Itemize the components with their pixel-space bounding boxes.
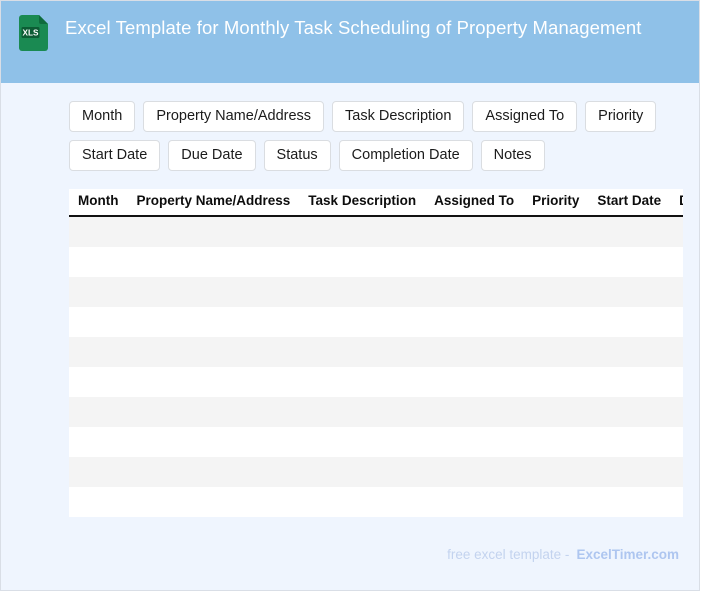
- table-cell[interactable]: [69, 337, 127, 367]
- table-cell[interactable]: [69, 307, 127, 337]
- column-header-task-description[interactable]: Task Description: [299, 189, 425, 216]
- table-cell[interactable]: [127, 487, 299, 517]
- column-header-start-date[interactable]: Start Date: [588, 189, 670, 216]
- table-cell[interactable]: [425, 216, 523, 247]
- table-cell[interactable]: [299, 337, 425, 367]
- table-cell[interactable]: [670, 216, 683, 247]
- table-header: Month Property Name/Address Task Descrip…: [69, 189, 683, 216]
- field-chip-month[interactable]: Month: [69, 101, 135, 132]
- table-cell[interactable]: [523, 247, 588, 277]
- table-cell[interactable]: [523, 337, 588, 367]
- table-cell[interactable]: [425, 487, 523, 517]
- table-cell[interactable]: [127, 457, 299, 487]
- field-chip-row-2: Start Date Due Date Status Completion Da…: [69, 140, 659, 171]
- table-cell[interactable]: [299, 397, 425, 427]
- table-cell[interactable]: [588, 367, 670, 397]
- table-cell[interactable]: [670, 247, 683, 277]
- table-cell[interactable]: [588, 216, 670, 247]
- field-chip-row-1: Month Property Name/Address Task Descrip…: [69, 101, 659, 132]
- table-cell[interactable]: [69, 367, 127, 397]
- footer-note: free excel template -: [447, 547, 569, 562]
- field-chip-completion-date[interactable]: Completion Date: [339, 140, 473, 171]
- table-cell[interactable]: [69, 216, 127, 247]
- table-cell[interactable]: [127, 367, 299, 397]
- page-content: Month Property Name/Address Task Descrip…: [1, 83, 699, 517]
- page-header: XLS Excel Template for Monthly Task Sche…: [1, 1, 699, 83]
- table-row[interactable]: [69, 307, 683, 337]
- table-row[interactable]: [69, 487, 683, 517]
- table-cell[interactable]: [425, 307, 523, 337]
- field-chip-start-date[interactable]: Start Date: [69, 140, 160, 171]
- table-cell[interactable]: [425, 457, 523, 487]
- svg-text:XLS: XLS: [23, 29, 39, 38]
- table-cell[interactable]: [588, 307, 670, 337]
- table-cell[interactable]: [69, 487, 127, 517]
- table-cell[interactable]: [425, 337, 523, 367]
- table-cell[interactable]: [127, 337, 299, 367]
- table-cell[interactable]: [588, 247, 670, 277]
- table-cell[interactable]: [127, 247, 299, 277]
- table-cell[interactable]: [523, 487, 588, 517]
- table-cell[interactable]: [425, 247, 523, 277]
- table-cell[interactable]: [670, 457, 683, 487]
- table-row[interactable]: [69, 247, 683, 277]
- spreadsheet-preview: Month Property Name/Address Task Descrip…: [69, 189, 683, 517]
- table-cell[interactable]: [670, 367, 683, 397]
- table-cell[interactable]: [588, 487, 670, 517]
- xls-file-icon: XLS: [19, 15, 49, 51]
- table-cell[interactable]: [670, 397, 683, 427]
- table-cell[interactable]: [425, 367, 523, 397]
- field-chip-group: Month Property Name/Address Task Descrip…: [69, 101, 659, 171]
- schedule-table: Month Property Name/Address Task Descrip…: [69, 189, 683, 517]
- table-row[interactable]: [69, 457, 683, 487]
- table-cell[interactable]: [523, 397, 588, 427]
- table-row[interactable]: [69, 397, 683, 427]
- footer-attribution: free excel template - ExcelTimer.com: [447, 547, 679, 562]
- template-page: XLS Excel Template for Monthly Task Sche…: [0, 0, 700, 591]
- table-cell[interactable]: [425, 427, 523, 457]
- table-cell[interactable]: [670, 277, 683, 307]
- table-cell[interactable]: [299, 457, 425, 487]
- footer-brand[interactable]: ExcelTimer.com: [576, 547, 679, 562]
- table-cell[interactable]: [299, 367, 425, 397]
- table-cell[interactable]: [670, 337, 683, 367]
- table-cell[interactable]: [523, 427, 588, 457]
- field-chip-notes[interactable]: Notes: [481, 140, 545, 171]
- table-cell[interactable]: [670, 487, 683, 517]
- table-cell[interactable]: [69, 247, 127, 277]
- table-cell[interactable]: [127, 307, 299, 337]
- table-cell[interactable]: [69, 427, 127, 457]
- table-cell[interactable]: [523, 457, 588, 487]
- table-cell[interactable]: [670, 307, 683, 337]
- column-header-priority[interactable]: Priority: [523, 189, 588, 216]
- table-cell[interactable]: [523, 216, 588, 247]
- column-header-month[interactable]: Month: [69, 189, 127, 216]
- table-cell[interactable]: [425, 277, 523, 307]
- table-cell[interactable]: [127, 427, 299, 457]
- table-cell[interactable]: [69, 457, 127, 487]
- column-header-assigned-to[interactable]: Assigned To: [425, 189, 523, 216]
- table-cell[interactable]: [299, 247, 425, 277]
- table-cell[interactable]: [299, 216, 425, 247]
- table-cell[interactable]: [588, 337, 670, 367]
- field-chip-due-date[interactable]: Due Date: [168, 140, 255, 171]
- table-cell[interactable]: [523, 307, 588, 337]
- table-row[interactable]: [69, 427, 683, 457]
- table-cell[interactable]: [588, 277, 670, 307]
- table-cell[interactable]: [588, 457, 670, 487]
- table-cell[interactable]: [299, 487, 425, 517]
- table-cell[interactable]: [425, 397, 523, 427]
- table-cell[interactable]: [127, 216, 299, 247]
- field-chip-task-description[interactable]: Task Description: [332, 101, 464, 132]
- table-cell[interactable]: [588, 397, 670, 427]
- column-header-property-name-address[interactable]: Property Name/Address: [127, 189, 299, 216]
- table-cell[interactable]: [69, 397, 127, 427]
- table-cell[interactable]: [299, 427, 425, 457]
- table-cell[interactable]: [523, 277, 588, 307]
- field-chip-assigned-to[interactable]: Assigned To: [472, 101, 577, 132]
- table-row[interactable]: [69, 277, 683, 307]
- table-cell[interactable]: [69, 277, 127, 307]
- table-cell[interactable]: [299, 277, 425, 307]
- table-header-row: Month Property Name/Address Task Descrip…: [69, 189, 683, 216]
- field-chip-status[interactable]: Status: [264, 140, 331, 171]
- table-cell[interactable]: [299, 307, 425, 337]
- column-header-due-date[interactable]: Due Date: [670, 189, 683, 216]
- table-row[interactable]: [69, 216, 683, 247]
- table-row[interactable]: [69, 367, 683, 397]
- field-chip-priority[interactable]: Priority: [585, 101, 656, 132]
- field-chip-property-name-address[interactable]: Property Name/Address: [143, 101, 324, 132]
- table-body: [69, 216, 683, 517]
- page-title: Excel Template for Monthly Task Scheduli…: [65, 14, 642, 41]
- table-cell[interactable]: [127, 397, 299, 427]
- table-cell[interactable]: [127, 277, 299, 307]
- table-row[interactable]: [69, 337, 683, 367]
- table-cell[interactable]: [588, 427, 670, 457]
- table-cell[interactable]: [523, 367, 588, 397]
- table-cell[interactable]: [670, 427, 683, 457]
